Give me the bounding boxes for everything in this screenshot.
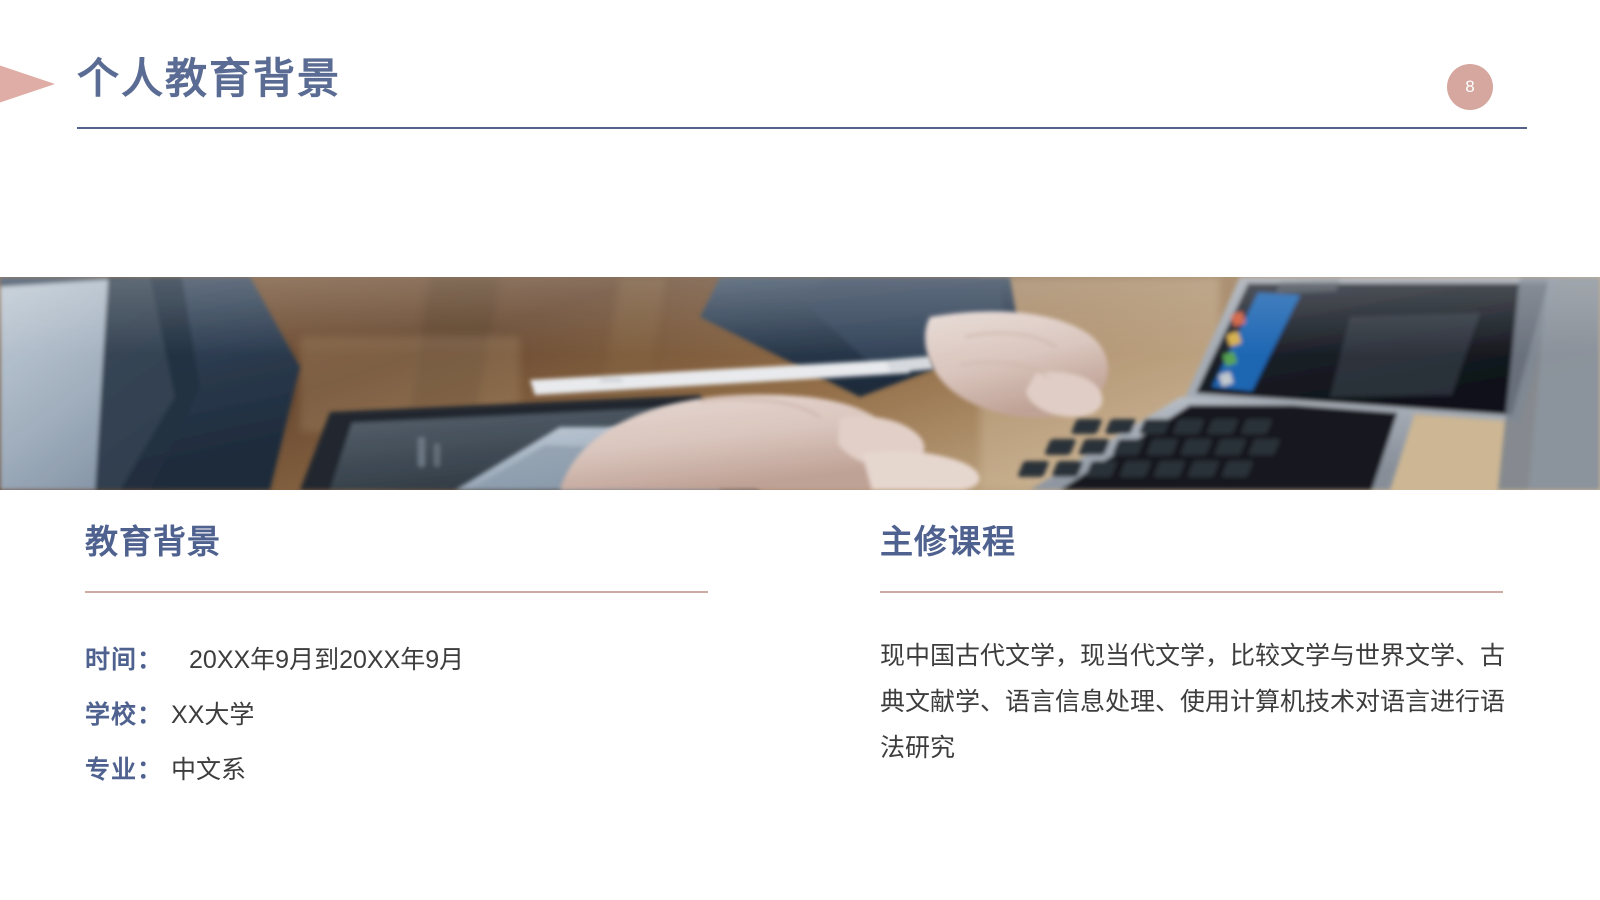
- courses-section-divider: [880, 591, 1503, 593]
- page-title: 个人教育背景: [77, 58, 341, 100]
- detail-label-major: 专业：: [85, 750, 163, 786]
- hero-photo: [0, 277, 1600, 490]
- courses-body-text: 现中国古代文学，现当代文学，比较文学与世界文学、古典文献学、语言信息处理、使用计…: [880, 633, 1505, 771]
- detail-value-school: XX大学: [171, 695, 254, 731]
- courses-section-title: 主修课程: [880, 525, 1016, 558]
- detail-row: 专业： 中文系: [85, 750, 710, 786]
- slide-header: 个人教育背景 8: [0, 0, 1600, 145]
- detail-value-major: 中文系: [171, 750, 246, 786]
- education-section-divider: [85, 591, 708, 593]
- detail-row: 时间： 20XX年9月到20XX年9月: [85, 640, 710, 676]
- triangle-right-icon: [0, 52, 55, 116]
- education-section-title: 教育背景: [85, 525, 221, 558]
- title-divider: [77, 127, 1527, 129]
- content-area: 教育背景 时间： 20XX年9月到20XX年9月 学校： XX大学 专业： 中文…: [0, 490, 1600, 900]
- slide: 个人教育背景 8: [0, 0, 1600, 900]
- education-detail-list: 时间： 20XX年9月到20XX年9月 学校： XX大学 专业： 中文系: [85, 640, 710, 805]
- hero-photo-illustration: [0, 277, 1600, 490]
- detail-label-school: 学校：: [85, 695, 163, 731]
- detail-label-time: 时间：: [85, 640, 163, 676]
- detail-value-time: 20XX年9月到20XX年9月: [189, 640, 464, 676]
- detail-row: 学校： XX大学: [85, 695, 710, 731]
- page-number-badge: 8: [1447, 64, 1493, 110]
